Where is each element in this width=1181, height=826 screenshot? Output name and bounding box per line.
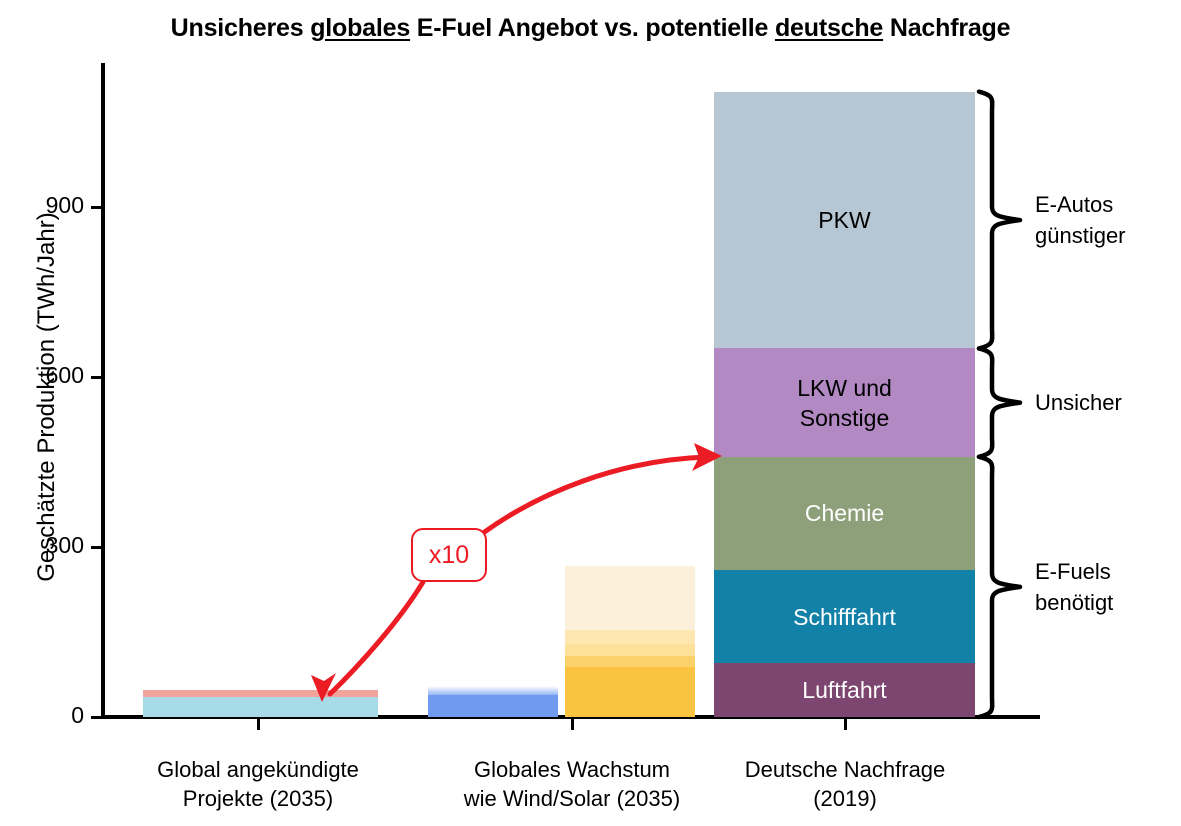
plot-area: LuftfahrtSchifffahrtChemieLKW undSonstig… (105, 63, 1040, 715)
bar-top-fade (428, 686, 558, 696)
bar-wind-solar-low[interactable] (428, 695, 558, 717)
x-tick-label-line1: Global angekündigte (108, 755, 408, 784)
bracket-label-line2: benötigt (1035, 587, 1113, 618)
segment-label-luftfahrt: Luftfahrt (714, 675, 975, 705)
x-tick-1 (571, 719, 574, 730)
multiplier-callout: x10 (411, 528, 487, 582)
bar-segment-wind-solar-high-2[interactable] (565, 644, 695, 655)
bar-german-demand[interactable]: LuftfahrtSchifffahrtChemieLKW undSonstig… (714, 92, 975, 717)
x-tick-label-line1: Globales Wachstum (422, 755, 722, 784)
title-underline-globales: globales (310, 14, 410, 42)
bar-segment-chemie[interactable]: Chemie (714, 457, 975, 570)
x-tick-0 (257, 719, 260, 730)
bracket-label-3: E-Fuelsbenötigt (1035, 556, 1113, 618)
page-title: Unsicheres globales E-Fuel Angebot vs. p… (0, 14, 1181, 43)
bar-upper-estimate[interactable] (143, 690, 378, 717)
bar-segment-wind-solar-high-1[interactable] (565, 656, 695, 667)
y-tick-0 (91, 716, 103, 719)
y-axis-title: Geschätzte Produktion (TWh/Jahr) (33, 77, 61, 717)
y-tick-label-900: 900 (4, 192, 84, 219)
bar-segment-luftfahrt[interactable]: Luftfahrt (714, 663, 975, 717)
x-tick-label-line1: Deutsche Nachfrage (695, 755, 995, 784)
multiplier-label: x10 (429, 541, 469, 570)
segment-label-line2: Sonstige (714, 403, 975, 433)
bar-segment-wind-solar-low-0[interactable] (428, 695, 558, 717)
bar-wind-solar-high[interactable] (565, 566, 695, 717)
y-tick-600 (91, 376, 103, 379)
y-tick-900 (91, 206, 103, 209)
y-tick-label-0: 0 (4, 702, 84, 729)
y-tick-300 (91, 546, 103, 549)
x-tick-2 (844, 719, 847, 730)
x-tick-label-1: Globales Wachstumwie Wind/Solar (2035) (422, 755, 722, 813)
segment-label-line1: LKW und (714, 373, 975, 403)
bracket-label-line1: E-Fuels (1035, 556, 1113, 587)
x-tick-label-0: Global angekündigteProjekte (2035) (108, 755, 408, 813)
x-tick-label-line2: (2019) (695, 784, 995, 813)
segment-label-lkw-und-sonstige: LKW undSonstige (714, 373, 975, 433)
bar-segment-schifffahrt[interactable]: Schifffahrt (714, 570, 975, 663)
title-part-suffix: Nachfrage (883, 14, 1010, 42)
bar-segment-upper-estimate-0[interactable] (143, 690, 378, 697)
bracket-label-line1: Unsicher (1035, 387, 1122, 418)
bar-segment-lkw-und-sonstige[interactable]: LKW undSonstige (714, 348, 975, 456)
bracket-label-line2: günstiger (1035, 220, 1126, 251)
y-tick-label-600: 600 (4, 362, 84, 389)
bracket-label-1: E-Autosgünstiger (1035, 189, 1126, 251)
segment-label-chemie: Chemie (714, 498, 975, 528)
bar-segment-wind-solar-high-0[interactable] (565, 667, 695, 717)
bar-segment-wind-solar-high-3[interactable] (565, 630, 695, 644)
x-tick-label-2: Deutsche Nachfrage(2019) (695, 755, 995, 813)
bar-segment-wind-solar-high-4[interactable] (565, 566, 695, 630)
bar-segment-pkw[interactable]: PKW (714, 92, 975, 349)
bracket-label-2: Unsicher (1035, 387, 1122, 418)
segment-label-schifffahrt: Schifffahrt (714, 602, 975, 632)
segment-label-pkw: PKW (714, 205, 975, 235)
title-part-prefix: Unsicheres (171, 14, 311, 42)
bracket-label-line1: E-Autos (1035, 189, 1126, 220)
title-underline-deutsche: deutsche (775, 14, 883, 42)
x-tick-label-line2: Projekte (2035) (108, 784, 408, 813)
title-part-middle: E-Fuel Angebot vs. potentielle (410, 14, 775, 42)
x-tick-label-line2: wie Wind/Solar (2035) (422, 784, 722, 813)
y-tick-label-300: 300 (4, 532, 84, 559)
